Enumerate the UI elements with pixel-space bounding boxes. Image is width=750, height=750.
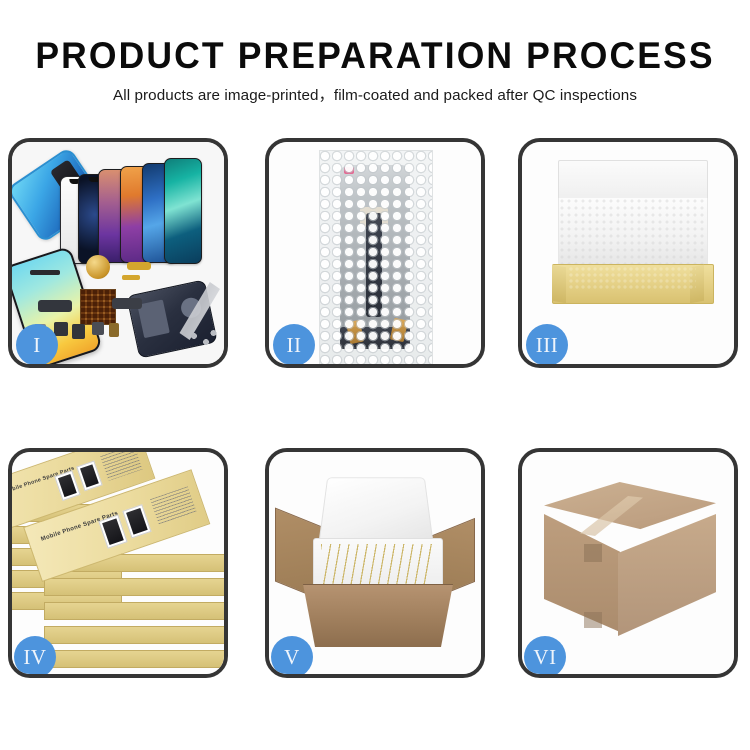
- process-panel-grid: I II III: [8, 138, 745, 678]
- retail-box-edge: [44, 576, 224, 596]
- process-step-panel-3[interactable]: III: [518, 138, 738, 368]
- small-component-graphic: [72, 324, 85, 339]
- flex-cable-graphic: [112, 298, 142, 309]
- small-component-graphic: [109, 323, 119, 337]
- foam-texture-overlay: [559, 198, 707, 266]
- phone-screen-teal-graphic: [164, 158, 202, 264]
- bubble-texture-overlay: [320, 151, 432, 365]
- page-title: PRODUCT PREPARATION PROCESS: [15, 0, 735, 76]
- box-window-thumbnail: [122, 504, 151, 538]
- phone-display-fan-graphic: [64, 156, 224, 266]
- gold-connector-part-graphic: [122, 275, 140, 280]
- box-window-thumbnail: [54, 470, 80, 501]
- step-badge-4: IV: [14, 636, 56, 678]
- sealed-carton-right-face: [618, 514, 716, 636]
- step-badge-3: III: [526, 324, 568, 366]
- retail-box-edge: [44, 600, 224, 620]
- step-badge-5: V: [271, 636, 313, 678]
- box-front-face: [44, 578, 226, 596]
- vibration-motor-graphic: [86, 255, 110, 279]
- camera-module-graphic: [54, 322, 68, 336]
- foam-lid-graphic: [318, 477, 434, 546]
- speaker-part-graphic: [30, 270, 60, 275]
- flex-cable-graphic: [38, 300, 72, 312]
- step-badge-2: II: [273, 324, 315, 366]
- box-spec-lines: [150, 486, 197, 525]
- box-front-face: [44, 650, 226, 668]
- page-subtitle: All products are image-printed，film-coat…: [0, 76, 750, 105]
- gold-flex-part-graphic: [127, 262, 151, 270]
- process-step-panel-5[interactable]: V: [265, 448, 485, 678]
- ic-chip-grid-graphic: [80, 289, 116, 325]
- process-step-panel-2[interactable]: II: [265, 138, 485, 368]
- box-front-face: [44, 626, 226, 644]
- carton-flap-tab-graphic: [584, 612, 602, 628]
- box-front-face: [44, 602, 226, 620]
- box-window-thumbnail: [98, 515, 127, 549]
- box-window-thumbnail: [76, 461, 102, 492]
- shipping-carton-body-graphic: [303, 584, 453, 647]
- sealed-carton-left-face: [544, 514, 620, 632]
- box-spec-lines: [100, 448, 143, 481]
- bubble-wrap-bag-graphic: [319, 150, 433, 366]
- process-step-panel-6[interactable]: VI: [518, 448, 738, 678]
- carton-flap-tab-graphic: [584, 544, 602, 562]
- stacked-retail-boxes-inside-graphic: [321, 544, 433, 586]
- header: PRODUCT PREPARATION PROCESS All products…: [0, 0, 750, 105]
- process-step-panel-1[interactable]: I: [8, 138, 228, 368]
- retail-box-edge: [44, 624, 224, 644]
- step-badge-1: I: [16, 324, 58, 366]
- screws-graphic: [188, 328, 218, 348]
- retail-box-edge: [44, 648, 224, 668]
- step-badge-6: VI: [524, 636, 566, 678]
- foam-insert-graphic: [558, 198, 708, 266]
- grey-bubble-padding-graphic: [568, 266, 696, 290]
- small-component-graphic: [92, 322, 104, 335]
- process-step-panel-4[interactable]: Mobile Phone Spare Parts Mobile Phone Sp…: [8, 448, 228, 678]
- box-side-left-graphic: [552, 265, 566, 303]
